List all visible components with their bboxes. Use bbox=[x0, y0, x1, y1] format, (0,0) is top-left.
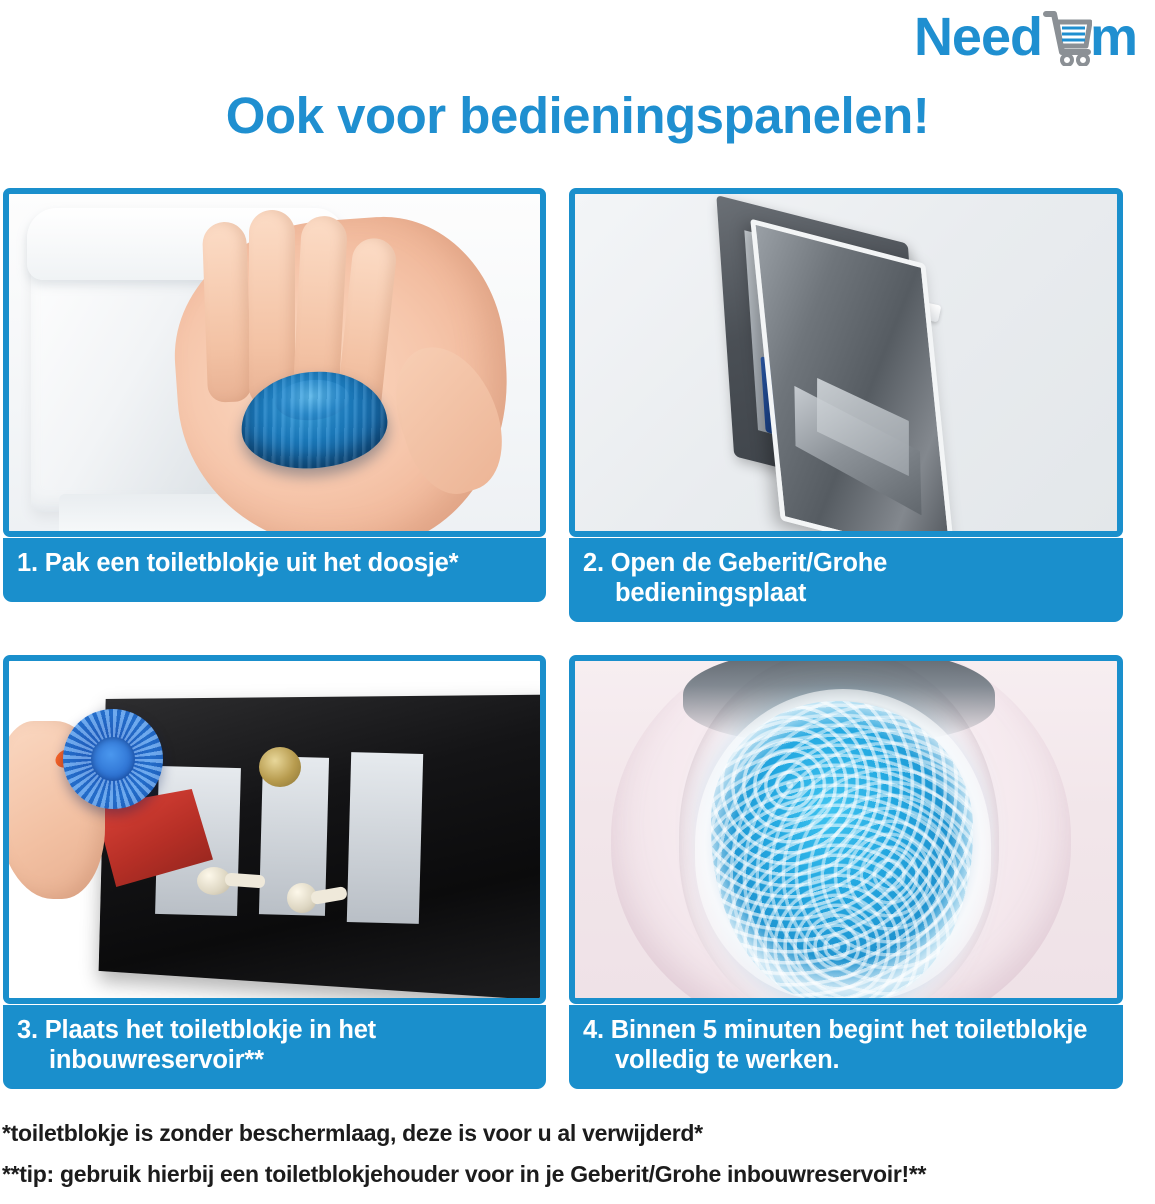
step-2-image bbox=[569, 188, 1123, 537]
step-card-3: 3. Plaats het toiletblokje in het inbouw… bbox=[3, 655, 546, 1089]
step-2-caption: 2. Open de Geberit/Grohe bedieningsplaat bbox=[569, 538, 1123, 622]
step-4-caption-line2: volledig te werken. bbox=[583, 1046, 1109, 1076]
page-title: Ook voor bedieningspanelen! bbox=[0, 86, 1155, 145]
brand-logo[interactable]: Need m bbox=[914, 6, 1137, 68]
footnote-1: *toiletblokje is zonder beschermlaag, de… bbox=[2, 1122, 1152, 1145]
footnotes-block: *toiletblokje is zonder beschermlaag, de… bbox=[2, 1122, 1152, 1204]
brass-fitting-shape bbox=[259, 747, 301, 787]
step-3-caption: 3. Plaats het toiletblokje in het inbouw… bbox=[3, 1005, 546, 1089]
step-2-caption-line1: 2. Open de Geberit/Grohe bbox=[583, 549, 887, 577]
step-1-caption-line1: 1. Pak een toiletblokje uit het doosje* bbox=[17, 549, 458, 577]
hand-holding-toilet-block-illustration bbox=[9, 194, 540, 531]
page-header: Need m bbox=[0, 0, 1155, 80]
block-ridges bbox=[237, 366, 391, 474]
white-knob-shape bbox=[197, 867, 231, 895]
water-splash-shape bbox=[695, 689, 991, 1001]
step-card-4: 4. Binnen 5 minuten begint het toiletblo… bbox=[569, 655, 1123, 1089]
step-2-caption-line2: bedieningsplaat bbox=[583, 579, 1109, 609]
blue-toilet-block bbox=[237, 366, 391, 474]
step-3-caption-line2: inbouwreservoir** bbox=[17, 1046, 532, 1076]
step-4-image bbox=[569, 655, 1123, 1004]
finger-shape bbox=[202, 221, 252, 402]
shopping-cart-icon bbox=[1040, 8, 1092, 66]
logo-text-after: m bbox=[1090, 10, 1137, 64]
flush-plate-opening-illustration bbox=[575, 194, 1117, 531]
step-3-image bbox=[3, 655, 546, 1004]
step-3-caption-line1: 3. Plaats het toiletblokje in het bbox=[17, 1016, 376, 1044]
cistern-cavity-shape bbox=[347, 752, 423, 924]
step-1-caption: 1. Pak een toiletblokje uit het doosje* bbox=[3, 538, 546, 602]
step-4-caption-line1: 4. Binnen 5 minuten begint het toiletblo… bbox=[583, 1016, 1087, 1044]
footnote-2: **tip: gebruik hierbij een toiletblokjeh… bbox=[2, 1163, 1152, 1186]
step-1-image bbox=[3, 188, 546, 537]
blue-toilet-block bbox=[63, 709, 163, 809]
flush-plate-shape bbox=[750, 219, 956, 537]
placing-block-in-cistern-illustration bbox=[9, 661, 540, 998]
steps-grid: 1. Pak een toiletblokje uit het doosje* … bbox=[3, 188, 1152, 1093]
step-4-caption: 4. Binnen 5 minuten begint het toiletblo… bbox=[569, 1005, 1123, 1089]
logo-text-before: Need bbox=[914, 10, 1042, 64]
white-knob-shape bbox=[287, 883, 317, 913]
step-card-1: 1. Pak een toiletblokje uit het doosje* bbox=[3, 188, 546, 602]
toilet-bowl-blue-water-illustration bbox=[575, 661, 1117, 998]
step-card-2: 2. Open de Geberit/Grohe bedieningsplaat bbox=[569, 188, 1123, 622]
block-fan-pattern bbox=[63, 709, 163, 809]
